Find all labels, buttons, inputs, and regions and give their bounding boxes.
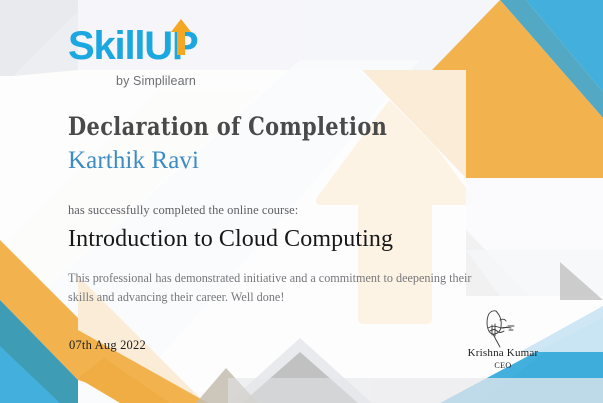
issue-date: 07th Aug 2022	[69, 338, 146, 353]
certificate-blurb: This professional has demonstrated initi…	[68, 269, 498, 307]
certificate-canvas: SkillUP by Simplilearn Declaration of Co…	[0, 0, 603, 403]
signer-name: Krishna Kumar	[438, 347, 568, 359]
logo-wordmark: SkillUP	[68, 26, 278, 70]
logo-tagline: by Simplilearn	[68, 74, 244, 88]
course-intro-text: has successfully completed the online co…	[68, 203, 298, 218]
signer-title: CEO	[438, 361, 568, 370]
recipient-name: Karthik Ravi	[68, 147, 199, 175]
certificate-heading: Declaration of Completion	[68, 112, 387, 141]
brand-logo: SkillUP by Simplilearn	[68, 26, 278, 88]
signature-block: Krishna Kumar CEO	[438, 306, 568, 370]
logo-up-arrow-icon	[170, 19, 192, 55]
course-title: Introduction to Cloud Computing	[68, 226, 393, 253]
signature-mark-icon	[438, 306, 568, 348]
